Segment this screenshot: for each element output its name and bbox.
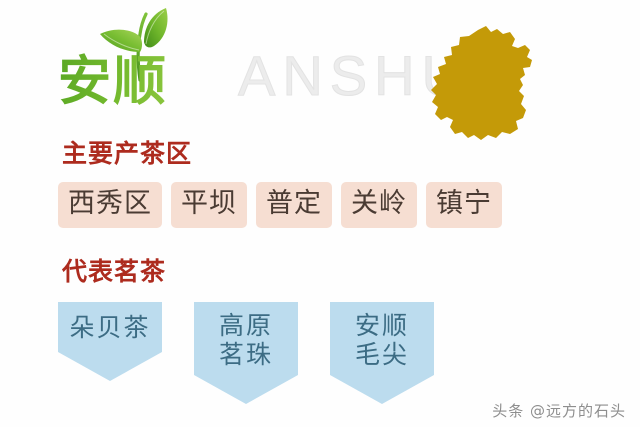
- area-tag[interactable]: 平坝: [171, 182, 247, 228]
- tea-pennant-body: 安顺 毛尖: [330, 302, 434, 375]
- tea-pennant-point: [194, 375, 298, 404]
- anshun-map-icon: [424, 22, 548, 146]
- area-tag[interactable]: 关岭: [341, 182, 417, 228]
- tea-pennant-line: 毛尖: [330, 340, 434, 369]
- footer-watermark: 头条 @远方的石头: [492, 401, 626, 421]
- section-main-tea-areas: 主要产茶区 西秀区 平坝 普定 关岭 镇宁: [0, 138, 640, 228]
- tea-pennant[interactable]: 高原 茗珠: [194, 302, 298, 404]
- tea-pennant-line: 安顺: [330, 311, 434, 340]
- tea-pennant-line: 茗珠: [194, 340, 298, 369]
- main-tea-areas-tag-row: 西秀区 平坝 普定 关岭 镇宁: [58, 182, 640, 228]
- header-zone: ANSHUN: [0, 0, 640, 150]
- tea-pennant[interactable]: 朵贝茶: [58, 302, 162, 381]
- tea-pennant-line: 朵贝茶: [58, 313, 162, 342]
- tea-pennant-body: 高原 茗珠: [194, 302, 298, 375]
- tea-pennant-line: 高原: [194, 311, 298, 340]
- tea-pennant-point: [58, 352, 162, 381]
- area-tag[interactable]: 普定: [256, 182, 332, 228]
- area-tag[interactable]: 西秀区: [58, 182, 162, 228]
- anshun-logo: 安顺: [58, 8, 248, 126]
- tea-pennant-body: 朵贝茶: [58, 302, 162, 352]
- tea-pennant-point: [330, 375, 434, 404]
- main-tea-areas-heading: 主要产茶区: [62, 138, 640, 170]
- section-representative-teas: 代表茗茶 朵贝茶 高原 茗珠 安顺 毛尖: [0, 256, 640, 404]
- representative-teas-heading: 代表茗茶: [62, 256, 640, 288]
- area-tag[interactable]: 镇宁: [426, 182, 502, 228]
- infographic-page: ANSHUN: [0, 0, 640, 427]
- tea-pennant[interactable]: 安顺 毛尖: [330, 302, 434, 404]
- anshun-logo-text: 安顺: [58, 50, 248, 116]
- representative-teas-pennant-row: 朵贝茶 高原 茗珠 安顺 毛尖: [58, 302, 640, 404]
